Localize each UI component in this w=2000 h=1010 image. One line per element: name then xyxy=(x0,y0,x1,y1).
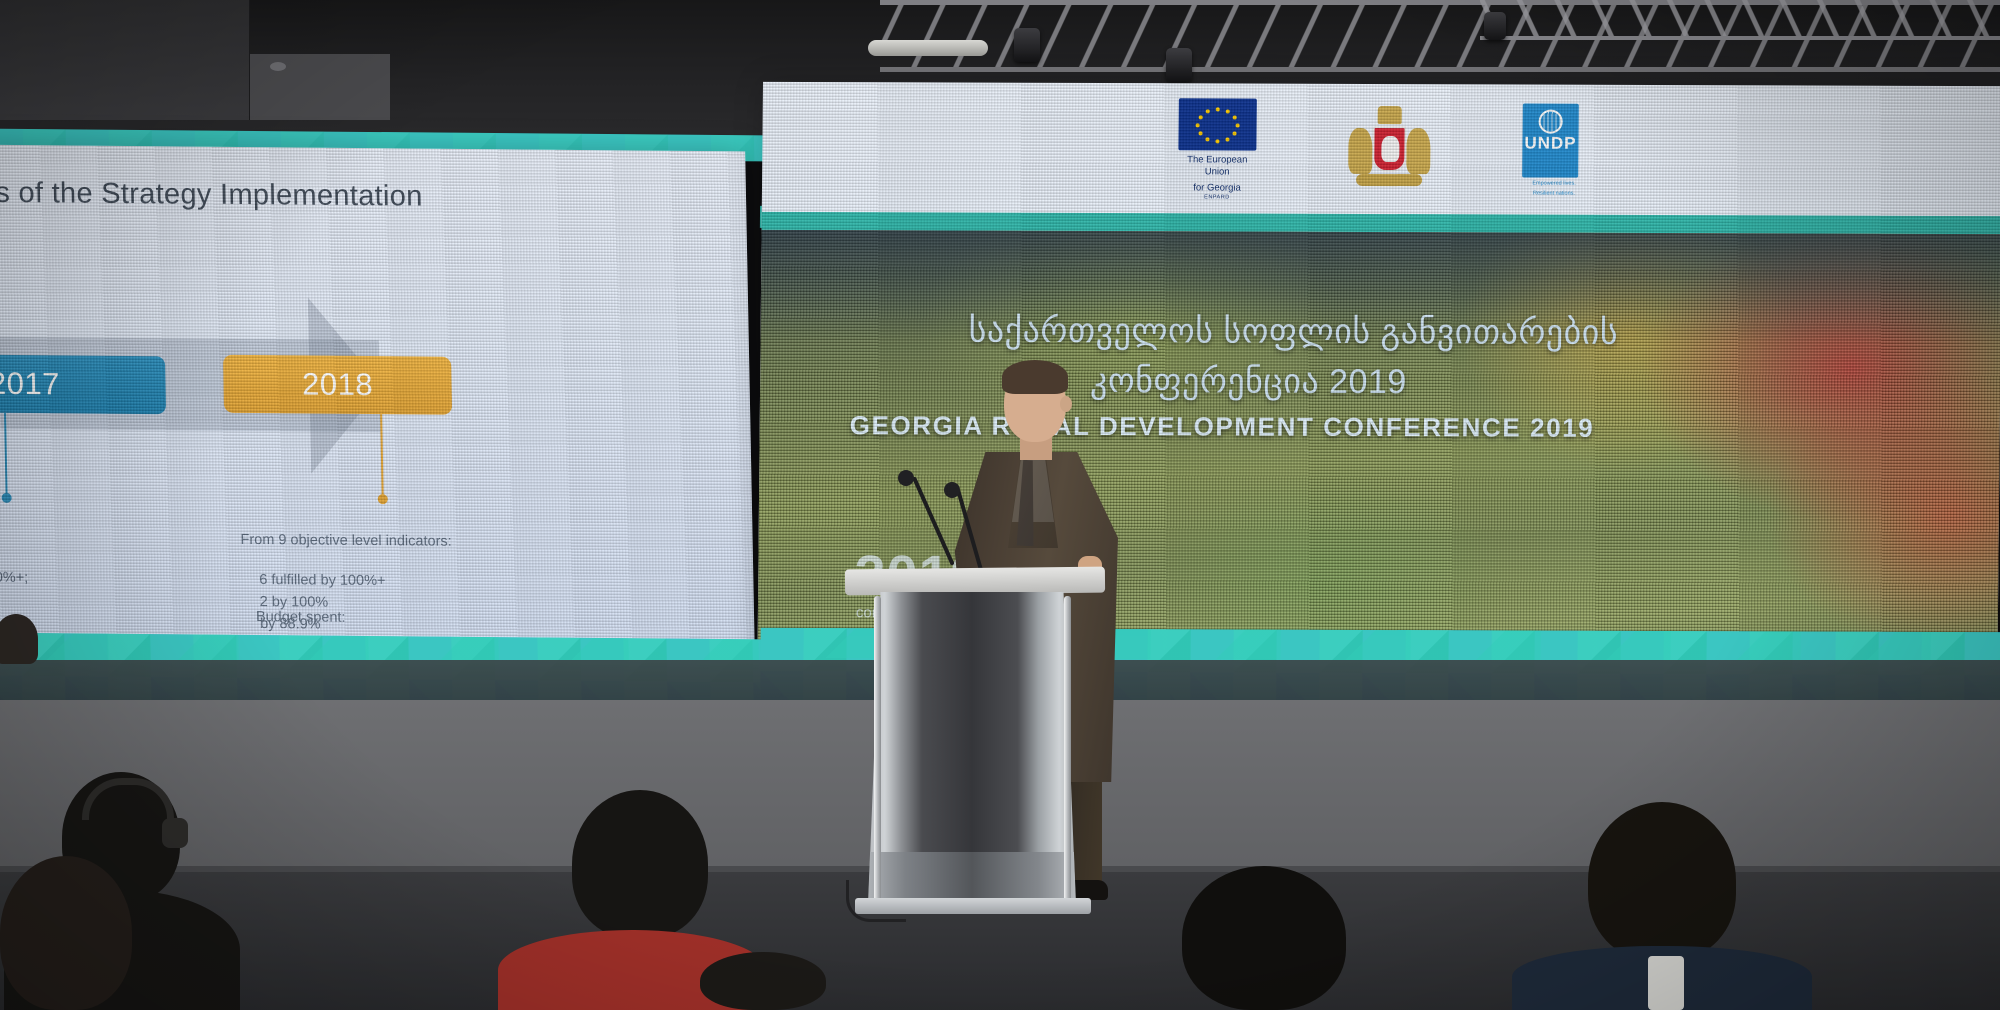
conference-title-ka-line1: საქართველოს სოფლის განვითარების xyxy=(968,311,1618,353)
undp-caption-line1: Empowered lives. xyxy=(1522,180,1586,187)
undp-letters: UNDP xyxy=(1522,136,1578,151)
audience-raised-hand xyxy=(0,614,38,664)
audience-member-right xyxy=(1182,866,1346,1010)
power-cable xyxy=(846,880,906,922)
microphone-head xyxy=(898,470,914,486)
audience-member-left xyxy=(0,856,132,1010)
timeline-dot-2017 xyxy=(2,493,12,503)
audience-member-far-right xyxy=(1588,802,1736,960)
undp-logo: UNDP Empowered lives. Resilient nations. xyxy=(1522,104,1587,198)
timeline-stem-2018 xyxy=(380,414,384,498)
scene-root: ults of the Strategy Implementation 2017… xyxy=(0,0,2000,1010)
audience-member-center xyxy=(572,790,708,938)
shield-icon xyxy=(1372,126,1406,172)
saint-george-icon xyxy=(1381,136,1399,162)
undp-caption-line2: Resilient nations. xyxy=(1522,190,1586,197)
eu-logo: The European Union for Georgia ENPARD xyxy=(1178,98,1257,200)
motto-ribbon xyxy=(1356,174,1422,186)
left-column-bullet: d partially; xyxy=(0,588,172,613)
lectern-rail-left xyxy=(874,596,881,902)
crown-icon xyxy=(1378,106,1402,124)
left-column-bullet: d by 100% or 100%+; xyxy=(0,566,171,591)
eu-caption-line2: for Georgia xyxy=(1178,182,1256,194)
conference-title-ka-line2: კონფერენცია 2019 xyxy=(1090,361,1407,402)
right-column-bullet: 6 fulfilled by 100%+ xyxy=(241,569,572,594)
lectern-rail-right xyxy=(1064,596,1071,902)
right-column-budget-label: Budget spent: xyxy=(256,609,346,626)
microphone-head xyxy=(944,482,960,498)
lion-right-icon xyxy=(1406,128,1430,174)
logo-bar: The European Union for Georgia ENPARD xyxy=(762,82,2000,218)
timeline-dot-2018 xyxy=(378,494,388,504)
left-column-header: level indicators: xyxy=(0,526,171,551)
conference-title-en: GEORGIA RURAL DEVELOPMENT CONFERENCE 201… xyxy=(850,410,1595,444)
globe-icon xyxy=(1539,110,1563,134)
year-badge-2018: 2018 xyxy=(223,355,452,415)
audience-member-lower xyxy=(700,952,826,1010)
eu-caption-line1: The European Union xyxy=(1178,154,1256,178)
georgia-coat-of-arms-icon xyxy=(1346,104,1433,196)
lectern-top-surface xyxy=(845,567,1105,596)
speaker-hair xyxy=(1002,360,1068,394)
lion-left-icon xyxy=(1348,128,1372,174)
slide-title: ults of the Strategy Implementation xyxy=(0,177,423,214)
eu-flag-icon xyxy=(1178,98,1257,150)
headphone-cup-icon xyxy=(162,818,188,848)
undp-badge: UNDP xyxy=(1522,104,1579,178)
speaker-ear xyxy=(1060,396,1072,412)
lighting-truss-secondary xyxy=(1480,0,2000,40)
left-presentation-slide: ults of the Strategy Implementation 2017… xyxy=(0,145,755,672)
audience-member-collar xyxy=(1648,956,1684,1010)
eu-caption-enpard: ENPARD xyxy=(1178,194,1256,200)
year-badge-2017: 2017 xyxy=(0,354,166,414)
right-column-header: From 9 objective level indicators: xyxy=(240,529,571,554)
